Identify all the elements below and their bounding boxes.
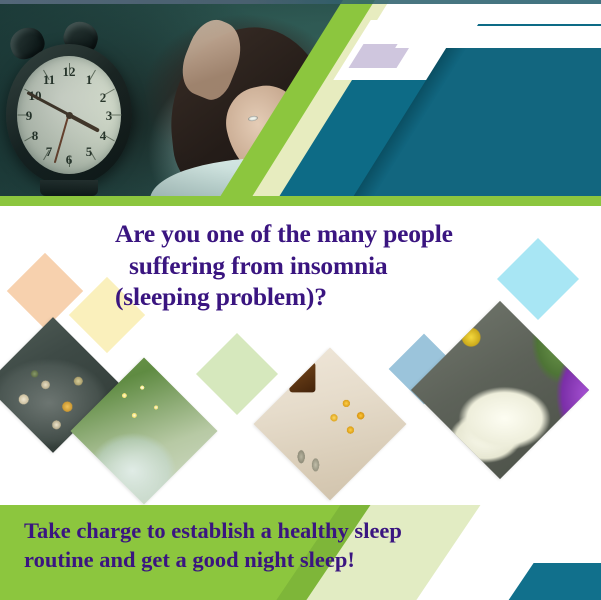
photo-yarrow-flowers-image xyxy=(411,301,589,479)
headline-line-3: (sleeping problem)? xyxy=(115,281,545,313)
cta-line-1: Take charge to establish a healthy sleep xyxy=(24,517,474,546)
diamond-pale-green xyxy=(196,333,278,415)
cta-section: Take charge to establish a healthy sleep… xyxy=(0,505,601,600)
green-divider-bar xyxy=(0,196,601,206)
photo-softgel-spoons xyxy=(254,348,407,501)
hero-top-accent-bar xyxy=(0,0,601,4)
headline-line-1: Are you one of the many people xyxy=(115,218,545,250)
insomnia-poster: 12 1 2 3 4 5 6 7 8 9 10 11 xyxy=(0,0,601,600)
headline: Are you one of the many people suffering… xyxy=(115,218,545,313)
headline-line-2: suffering from insomnia xyxy=(129,250,545,282)
cta-text: Take charge to establish a healthy sleep… xyxy=(24,517,474,575)
cta-line-2: routine and get a good night sleep! xyxy=(24,546,474,575)
hero-white-chevron-lower xyxy=(395,26,601,48)
hero-section: 12 1 2 3 4 5 6 7 8 9 10 11 xyxy=(0,0,601,200)
photo-yarrow-flowers xyxy=(411,301,589,479)
photo-softgel-spoons-image xyxy=(254,348,407,501)
